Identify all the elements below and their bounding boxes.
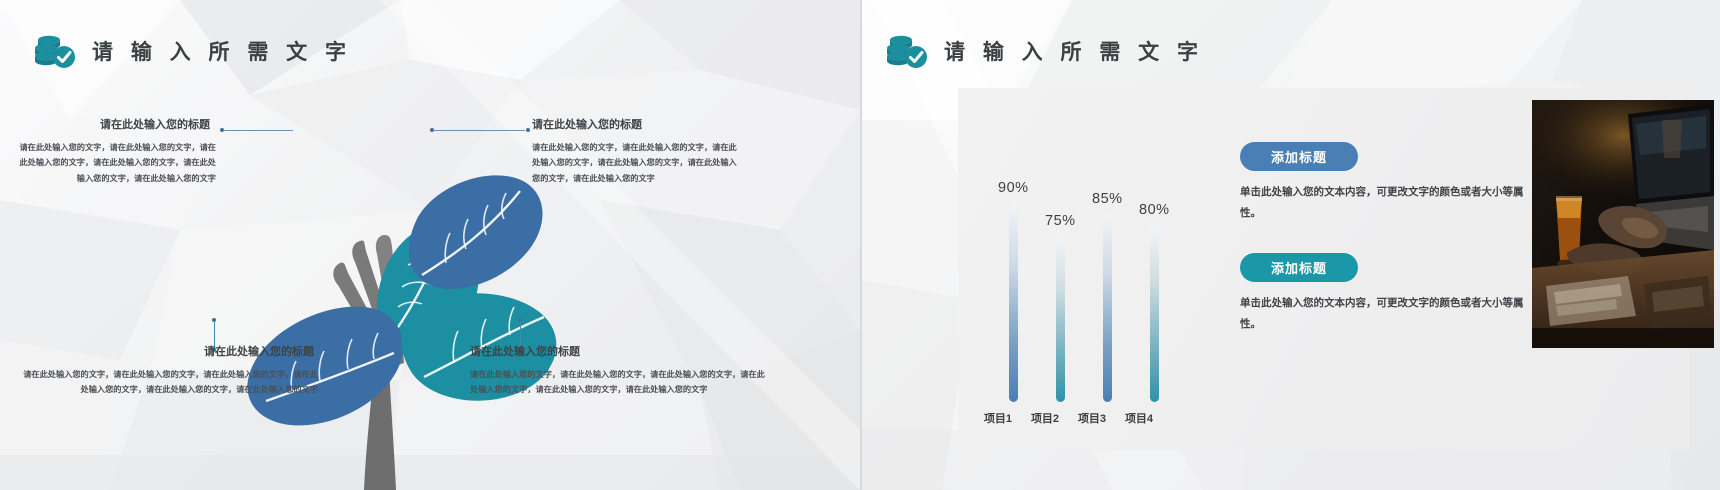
bar-value-label: 75% bbox=[1045, 213, 1076, 229]
coins-check-icon bbox=[886, 33, 930, 69]
callout-title: 请在此处输入您的标题 bbox=[20, 345, 318, 359]
page-title: 请 输 入 所 需 文 字 bbox=[944, 36, 1204, 66]
callout-title: 请在此处输入您的标题 bbox=[470, 345, 768, 359]
bar-value-label: 90% bbox=[998, 180, 1029, 196]
block-body-2: 单击此处输入您的文本内容，可更改文字的颜色或者大小等属性。 bbox=[1240, 293, 1540, 335]
bar-category-label: 项目1 bbox=[973, 410, 1023, 426]
bar bbox=[1103, 213, 1112, 402]
bar bbox=[1150, 224, 1159, 402]
callout-top-left: 请在此处输入您的标题 请在此处输入您的文字，请在此处输入您的文字，请在此处输入您… bbox=[16, 118, 216, 186]
slide-left: 请 输 入 所 需 文 字 bbox=[0, 0, 860, 490]
coins-check-icon bbox=[34, 33, 78, 69]
callout-body: 请在此处输入您的文字，请在此处输入您的文字，请在此处输入您的文字，请在此处输入您… bbox=[16, 140, 216, 186]
callout-bottom-left: 请在此处输入您的标题 请在此处输入您的文字，请在此处输入您的文字，请在此处输入您… bbox=[20, 345, 318, 398]
callout-top-right: 请在此处输入您的标题 请在此处输入您的文字，请在此处输入您的文字，请在此处输入您… bbox=[532, 118, 738, 186]
bar-category-label: 项目3 bbox=[1067, 410, 1117, 426]
callout-bottom-right: 请在此处输入您的标题 请在此处输入您的文字，请在此处输入您的文字，请在此处输入您… bbox=[470, 345, 768, 398]
bar bbox=[1056, 235, 1065, 402]
page-title: 请 输 入 所 需 文 字 bbox=[92, 36, 352, 66]
callout-title: 请在此处输入您的标题 bbox=[16, 118, 216, 132]
bar-value-label: 80% bbox=[1139, 202, 1170, 218]
add-title-button-label: 添加标题 bbox=[1271, 147, 1327, 166]
bar bbox=[1009, 202, 1018, 402]
add-title-button-label: 添加标题 bbox=[1271, 258, 1327, 277]
header-right: 请 输 入 所 需 文 字 bbox=[886, 33, 1204, 69]
callout-body: 请在此处输入您的文字，请在此处输入您的文字，请在此处输入您的文字，请在此处输入您… bbox=[532, 140, 738, 186]
add-title-button-1[interactable]: 添加标题 bbox=[1240, 142, 1358, 171]
bar-group-2: 75% bbox=[1045, 213, 1076, 402]
block-body-1: 单击此处输入您的文本内容，可更改文字的颜色或者大小等属性。 bbox=[1240, 182, 1540, 224]
bar-value-label: 85% bbox=[1092, 191, 1123, 207]
bar-group-4: 80% bbox=[1139, 202, 1170, 402]
callout-body: 请在此处输入您的文字，请在此处输入您的文字，请在此处输入您的文字，请在此处输入您… bbox=[470, 367, 768, 397]
bar-group-1: 90% bbox=[998, 180, 1029, 402]
add-title-button-2[interactable]: 添加标题 bbox=[1240, 253, 1358, 282]
bar-chart: 90% 项目1 75% 项目2 85% 项目3 80% 项目4 bbox=[958, 88, 1248, 450]
bar-category-label: 项目4 bbox=[1114, 410, 1164, 426]
bar-category-label: 项目2 bbox=[1020, 410, 1070, 426]
header-left: 请 输 入 所 需 文 字 bbox=[34, 33, 352, 69]
callout-body: 请在此处输入您的文字，请在此处输入您的文字，请在此处输入您的文字，请在此处输入您… bbox=[20, 367, 318, 397]
bar-group-3: 85% bbox=[1092, 191, 1123, 402]
office-desk-laptop-hands-photo bbox=[1532, 100, 1714, 348]
callout-title: 请在此处输入您的标题 bbox=[532, 118, 738, 132]
